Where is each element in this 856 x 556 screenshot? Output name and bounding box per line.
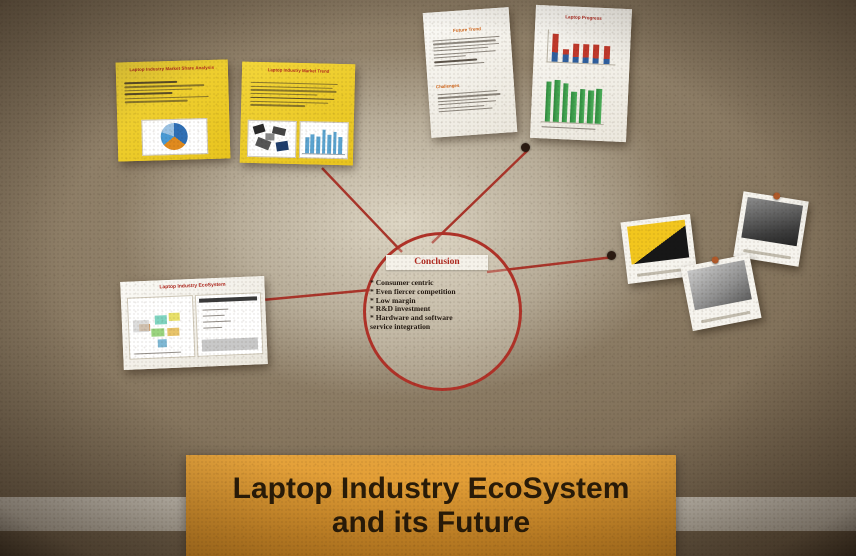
bar (578, 89, 585, 124)
card-market-share-heading: Laptop Industry Market Share Analysis (122, 66, 222, 73)
line-to-ecosystem (262, 290, 370, 300)
push-pin-icon (773, 192, 781, 200)
node-top[interactable] (521, 143, 530, 152)
dark-laptop-image (742, 197, 803, 246)
card-future-trend[interactable]: Future Trend Challenges (423, 7, 518, 138)
bar (316, 136, 320, 153)
card-market-share[interactable]: Laptop Industry Market Share Analysis (116, 59, 231, 161)
bullet-item: service integration (370, 323, 510, 332)
card-market-share-body (124, 80, 220, 103)
card-progress-heading: Laptop Progress (541, 14, 625, 23)
bar (570, 92, 577, 123)
line-to-market-cards (322, 168, 402, 252)
pie-chart (160, 123, 188, 151)
silver-laptop-image (687, 260, 752, 311)
card-market-trend-bar-chart (299, 121, 349, 159)
bar (553, 80, 560, 122)
bar (338, 137, 342, 154)
bar-stack (593, 45, 600, 64)
yellow-laptop-image (627, 220, 690, 265)
card-market-trend[interactable]: Laptop Industry Market Trend (240, 62, 355, 166)
card-market-trend-body (250, 82, 346, 108)
title-banner[interactable]: Laptop Industry EcoSystem and its Future (186, 455, 676, 556)
push-pin-icon (711, 256, 719, 264)
bar (333, 132, 337, 154)
conclusion-bullets: * Consumer centric * Even fiercer compet… (370, 279, 510, 332)
card-future-trend-subheading: Challenges (436, 81, 506, 90)
card-ecosystem[interactable]: Laptop Industry EcoSystem (120, 276, 268, 370)
bar (587, 91, 594, 124)
bar (322, 130, 326, 154)
photo-caption (637, 268, 687, 277)
conclusion-heading: Conclusion (386, 255, 488, 270)
card-future-trend-heading: Future Trend (430, 26, 504, 36)
line-to-top-cards (432, 150, 528, 243)
bar-stack (583, 45, 590, 64)
card-challenges-body (437, 90, 506, 113)
card-future-trend-body (433, 36, 505, 67)
bar (305, 138, 309, 154)
photo-caption (743, 249, 790, 259)
bar-stack (552, 34, 559, 62)
title-line-1: Laptop Industry EcoSystem (233, 472, 630, 506)
bar (327, 135, 331, 154)
prezi-canvas[interactable]: Laptop Industry Market Share Analysis La… (0, 0, 856, 556)
bar (310, 134, 314, 154)
node-right[interactable] (607, 251, 616, 260)
card-market-trend-heading: Laptop Industry Market Trend (249, 68, 348, 75)
ecosystem-diagram-panel (127, 295, 196, 360)
bar-stack (562, 49, 569, 63)
card-progress-chart-top (539, 25, 625, 71)
photo-silver-laptop[interactable] (680, 254, 761, 331)
card-progress-chart-bottom (537, 73, 621, 132)
title-line-2: and its Future (233, 506, 630, 540)
bar-stack (603, 46, 610, 64)
bar (562, 83, 569, 122)
bar-chart-trend (300, 126, 348, 154)
card-market-trend-photo (247, 120, 297, 158)
bar (595, 89, 602, 124)
bar-stack (572, 43, 579, 62)
card-progress[interactable]: Laptop Progress (530, 5, 632, 142)
card-ecosystem-heading: Laptop Industry EcoSystem (126, 281, 258, 292)
presentation-title: Laptop Industry EcoSystem and its Future (233, 472, 630, 539)
card-market-share-pie-chart (141, 118, 208, 156)
ecosystem-table-panel (195, 292, 264, 357)
bar (545, 81, 552, 122)
